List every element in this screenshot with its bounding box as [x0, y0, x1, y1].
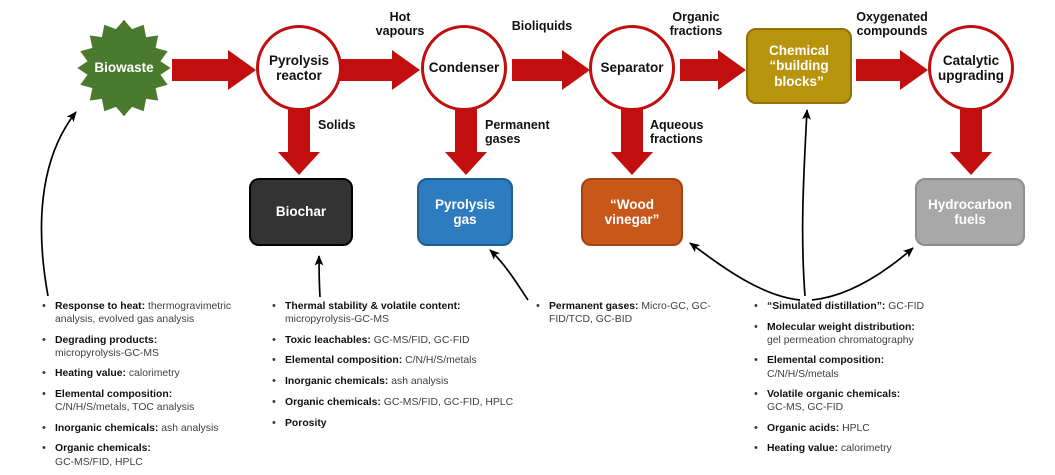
notes-column-biowaste: •Response to heat: thermogravimetric ana…	[42, 300, 264, 475]
note-term: Inorganic chemicals:	[285, 376, 388, 387]
note-term: Toxic leachables:	[285, 335, 371, 346]
note-term: Heating value:	[767, 443, 838, 454]
note-detail: calorimetry	[129, 368, 180, 379]
bullet-icon: •	[754, 442, 767, 456]
note-item: •Organic chemicals: GC-MS/FID, GC-FID, H…	[272, 396, 524, 410]
note-term: Degrading products:	[55, 335, 157, 346]
node-separator-label: Separator	[600, 60, 663, 75]
note-term: Thermal stability & volatile content:	[285, 301, 461, 312]
node-pyrolysis-gas-label: Pyrolysis gas	[435, 197, 495, 227]
node-wood-vinegar-label: “Wood vinegar”	[605, 197, 660, 227]
bullet-icon: •	[754, 354, 767, 368]
node-hydrocarbon-fuels[interactable]: Hydrocarbon fuels	[915, 178, 1025, 246]
note-detail: HPLC	[842, 423, 870, 434]
bullet-icon: •	[272, 300, 285, 314]
node-condenser-label: Condenser	[429, 60, 500, 75]
note-text: Permanent gases: Micro-GC, GC-FID/TCD, G…	[549, 300, 736, 327]
note-detail: ash analysis	[161, 423, 218, 434]
bullet-icon: •	[42, 442, 55, 456]
note-detail: GC-MS/FID, GC-FID, HPLC	[384, 397, 513, 408]
node-biowaste[interactable]: Biowaste	[76, 20, 172, 116]
note-item: •Elemental composition:C/N/H/S/metals	[754, 354, 1012, 381]
bullet-icon: •	[42, 300, 55, 314]
note-text: Response to heat: thermogravimetric anal…	[55, 300, 264, 327]
note-term: Inorganic chemicals:	[55, 423, 158, 434]
note-text: Volatile organic chemicals:GC-MS, GC-FID	[767, 388, 1012, 415]
bullet-icon: •	[754, 300, 767, 314]
note-item: •“Simulated distillation”: GC-FID	[754, 300, 1012, 314]
note-text: Molecular weight distribution:gel permea…	[767, 321, 1012, 348]
note-item: •Inorganic chemicals: ash analysis	[272, 375, 524, 389]
note-text: Porosity	[285, 417, 524, 430]
note-detail: GC-MS/FID, GC-FID	[374, 335, 470, 346]
node-pyrolysis-reactor-label: Pyrolysis reactor	[269, 53, 329, 83]
note-detail: C/N/H/S/metals	[767, 369, 839, 380]
note-text: Heating value: calorimetry	[767, 442, 1012, 455]
flow-label-aqueous-fractions: Aqueous fractions	[650, 118, 750, 147]
note-item: •Organic chemicals:GC-MS/FID, HPLC	[42, 442, 264, 469]
note-text: Thermal stability & volatile content:mic…	[285, 300, 524, 327]
bullet-icon: •	[272, 396, 285, 410]
note-item: •Elemental composition:C/N/H/S/metals, T…	[42, 388, 264, 415]
flow-label-bioliquids: Bioliquids	[494, 19, 590, 33]
note-term: Elemental composition:	[55, 389, 172, 400]
note-item: •Volatile organic chemicals:GC-MS, GC-FI…	[754, 388, 1012, 415]
bullet-icon: •	[754, 388, 767, 402]
note-detail: calorimetry	[841, 443, 892, 454]
note-term: Elemental composition:	[767, 355, 884, 366]
note-term: Organic acids:	[767, 423, 839, 434]
node-biowaste-label: Biowaste	[94, 60, 153, 75]
note-term: Organic chemicals:	[55, 443, 151, 454]
note-item: •Elemental composition: C/N/H/S/metals	[272, 354, 524, 368]
flow-label-permanent-gases: Permanent gases	[485, 118, 585, 147]
flow-label-solids: Solids	[318, 118, 408, 132]
note-text: Elemental composition:C/N/H/S/metals	[767, 354, 1012, 381]
note-detail: micropyrolysis-GC-MS	[285, 314, 389, 325]
bullet-icon: •	[272, 417, 285, 431]
note-text: Elemental composition: C/N/H/S/metals	[285, 354, 524, 367]
note-text: Organic chemicals: GC-MS/FID, GC-FID, HP…	[285, 396, 524, 409]
note-item: •Inorganic chemicals: ash analysis	[42, 422, 264, 436]
note-item: •Permanent gases: Micro-GC, GC-FID/TCD, …	[536, 300, 736, 327]
notes-column-biochar: •Thermal stability & volatile content:mi…	[272, 300, 524, 437]
flow-label-organic-fractions: Organic fractions	[648, 10, 744, 39]
note-item: •Heating value: calorimetry	[42, 367, 264, 381]
note-text: Organic chemicals:GC-MS/FID, HPLC	[55, 442, 264, 469]
flow-label-hot-vapours: Hot vapours	[352, 10, 448, 39]
bullet-icon: •	[42, 388, 55, 402]
bullet-icon: •	[272, 354, 285, 368]
node-hydrocarbon-fuels-label: Hydrocarbon fuels	[928, 197, 1012, 227]
note-item: •Porosity	[272, 417, 524, 431]
bullet-icon: •	[272, 375, 285, 389]
note-detail: gel permeation chromatography	[767, 335, 914, 346]
note-detail: GC-MS, GC-FID	[767, 402, 843, 413]
note-text: Inorganic chemicals: ash analysis	[55, 422, 264, 435]
note-term: Porosity	[285, 418, 327, 429]
note-term: “Simulated distillation”:	[767, 301, 885, 312]
diagram-canvas: Biowaste Pyrolysis reactor Condenser Sep…	[0, 0, 1055, 475]
note-detail: C/N/H/S/metals	[405, 355, 477, 366]
note-detail: GC-MS/FID, HPLC	[55, 457, 143, 468]
node-pyrolysis-reactor[interactable]: Pyrolysis reactor	[256, 25, 342, 111]
bullet-icon: •	[42, 422, 55, 436]
node-biochar-label: Biochar	[276, 204, 326, 219]
bullet-icon: •	[42, 367, 55, 381]
note-term: Heating value:	[55, 368, 126, 379]
node-biochar[interactable]: Biochar	[249, 178, 353, 246]
note-item: •Molecular weight distribution:gel perme…	[754, 321, 1012, 348]
notes-column-liquid-products: •“Simulated distillation”: GC-FID•Molecu…	[754, 300, 1012, 463]
note-text: Degrading products:micropyrolysis-GC-MS	[55, 334, 264, 361]
bullet-icon: •	[42, 334, 55, 348]
bullet-icon: •	[272, 334, 285, 348]
bullet-icon: •	[754, 422, 767, 436]
note-term: Permanent gases:	[549, 301, 639, 312]
note-item: •Response to heat: thermogravimetric ana…	[42, 300, 264, 327]
note-term: Response to heat:	[55, 301, 145, 312]
note-detail: ash analysis	[391, 376, 448, 387]
note-text: Elemental composition:C/N/H/S/metals, TO…	[55, 388, 264, 415]
node-wood-vinegar[interactable]: “Wood vinegar”	[581, 178, 683, 246]
note-text: Inorganic chemicals: ash analysis	[285, 375, 524, 388]
note-term: Elemental composition:	[285, 355, 402, 366]
node-pyrolysis-gas[interactable]: Pyrolysis gas	[417, 178, 513, 246]
note-text: Organic acids: HPLC	[767, 422, 1012, 435]
note-item: •Heating value: calorimetry	[754, 442, 1012, 456]
note-text: “Simulated distillation”: GC-FID	[767, 300, 1012, 313]
note-term: Molecular weight distribution:	[767, 322, 915, 333]
note-item: •Toxic leachables: GC-MS/FID, GC-FID	[272, 334, 524, 348]
node-chemical-building-blocks[interactable]: Chemical “building blocks”	[746, 28, 852, 104]
node-chemical-building-blocks-label: Chemical “building blocks”	[769, 43, 829, 88]
bullet-icon: •	[536, 300, 549, 314]
node-catalytic-upgrading-label: Catalytic upgrading	[938, 53, 1004, 83]
note-term: Organic chemicals:	[285, 397, 381, 408]
note-detail: C/N/H/S/metals, TOC analysis	[55, 402, 194, 413]
note-item: •Degrading products:micropyrolysis-GC-MS	[42, 334, 264, 361]
flow-label-oxygenated-compounds: Oxygenated compounds	[836, 10, 948, 39]
note-item: •Thermal stability & volatile content:mi…	[272, 300, 524, 327]
note-detail: GC-FID	[888, 301, 924, 312]
note-detail: micropyrolysis-GC-MS	[55, 348, 159, 359]
note-term: Volatile organic chemicals:	[767, 389, 900, 400]
notes-column-pyrolysis-gas: •Permanent gases: Micro-GC, GC-FID/TCD, …	[536, 300, 736, 334]
note-text: Toxic leachables: GC-MS/FID, GC-FID	[285, 334, 524, 347]
bullet-icon: •	[754, 321, 767, 335]
note-text: Heating value: calorimetry	[55, 367, 264, 380]
note-item: •Organic acids: HPLC	[754, 422, 1012, 436]
